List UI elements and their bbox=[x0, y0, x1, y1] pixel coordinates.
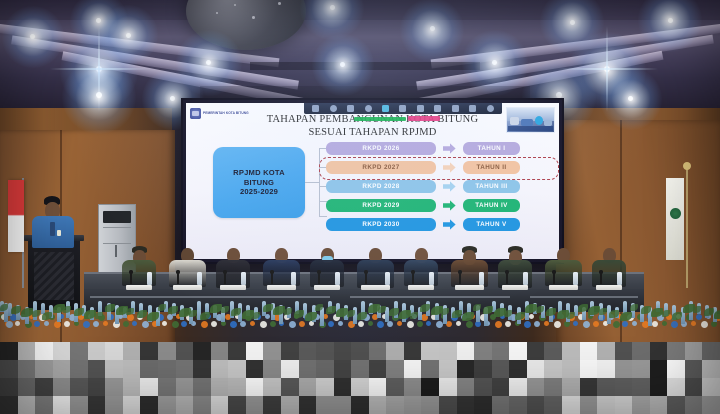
flower-leaf bbox=[441, 308, 449, 315]
mosaic-block bbox=[404, 360, 422, 378]
flower-bloom bbox=[662, 321, 667, 326]
mosaic-block bbox=[334, 342, 352, 360]
mosaic-block bbox=[421, 360, 439, 378]
flower-leaf bbox=[105, 304, 115, 312]
mosaic-block bbox=[439, 396, 457, 414]
mosaic-block bbox=[299, 342, 317, 360]
flower-bloom bbox=[127, 314, 134, 321]
flower-bloom bbox=[456, 321, 461, 326]
flower-bloom bbox=[338, 321, 343, 326]
rpjmd-main-box: RPJMD KOTA BITUNG 2025-2029 bbox=[213, 147, 305, 218]
ceiling-light bbox=[668, 18, 673, 23]
mosaic-block bbox=[615, 378, 633, 396]
flower-bloom bbox=[701, 321, 708, 328]
table-rail bbox=[350, 296, 510, 298]
table-rail bbox=[530, 296, 638, 298]
water-bottle bbox=[523, 272, 528, 285]
tahun-box: TAHUN IV bbox=[463, 199, 520, 212]
tahun-box: TAHUN II bbox=[463, 161, 520, 174]
mosaic-block bbox=[544, 378, 562, 396]
mosaic-block bbox=[562, 342, 580, 360]
flower-bloom bbox=[270, 321, 276, 327]
arrow-right-icon bbox=[442, 200, 457, 211]
mosaic-block bbox=[386, 378, 404, 396]
mosaic-block bbox=[597, 342, 615, 360]
mosaic-block bbox=[263, 396, 281, 414]
tahun-box: TAHUN I bbox=[463, 142, 520, 155]
mosaic-block bbox=[492, 378, 510, 396]
flower-leaf bbox=[347, 310, 355, 317]
highlight-tool-icon[interactable] bbox=[382, 105, 389, 112]
microphone bbox=[177, 272, 179, 284]
mosaic-block bbox=[246, 360, 264, 378]
flower-bloom bbox=[15, 321, 20, 326]
pointer-tool-icon[interactable] bbox=[312, 105, 319, 112]
mosaic-block bbox=[334, 378, 352, 396]
mosaic-block bbox=[70, 378, 88, 396]
mosaic-block bbox=[211, 360, 229, 378]
mosaic-block bbox=[421, 396, 439, 414]
arrow-right-icon bbox=[442, 143, 457, 154]
mosaic-block bbox=[211, 396, 229, 414]
name-plate bbox=[267, 285, 296, 290]
flower-bloom bbox=[44, 321, 49, 326]
mosaic-block bbox=[580, 378, 598, 396]
mosaic-block bbox=[176, 360, 194, 378]
water-bottle bbox=[429, 272, 434, 285]
flower-bloom bbox=[132, 321, 137, 326]
mosaic-block bbox=[0, 396, 18, 414]
connector-spine bbox=[319, 148, 320, 216]
ceiling-light bbox=[96, 18, 101, 23]
flower-leaf bbox=[536, 306, 544, 313]
flower-bloom bbox=[426, 321, 431, 326]
chandelier bbox=[186, 0, 306, 50]
rpjmd-line1: RPJMD KOTA bbox=[233, 168, 285, 178]
mosaic-block bbox=[140, 396, 158, 414]
flower-bloom bbox=[142, 321, 149, 328]
mosaic-block bbox=[685, 396, 703, 414]
flower-bloom bbox=[691, 321, 696, 326]
name-plate bbox=[502, 285, 528, 290]
mosaic-block bbox=[702, 378, 720, 396]
water-bottle bbox=[617, 272, 622, 285]
flagpole-right bbox=[686, 168, 688, 288]
mosaic-block bbox=[123, 378, 141, 396]
mosaic-block bbox=[299, 396, 317, 414]
flower-bloom bbox=[358, 321, 364, 327]
mosaic-block bbox=[35, 378, 53, 396]
mosaic-block bbox=[580, 342, 598, 360]
mosaic-block bbox=[70, 360, 88, 378]
ceremonial-flag bbox=[666, 178, 684, 260]
mosaic-block bbox=[351, 342, 369, 360]
rkpd-box: RKPD 2027 bbox=[326, 161, 436, 174]
ceiling-light bbox=[170, 96, 175, 101]
mosaic-block bbox=[105, 360, 123, 378]
ceiling-light bbox=[430, 26, 435, 31]
mosaic-block bbox=[527, 396, 545, 414]
ceiling bbox=[0, 0, 720, 108]
mosaic-block bbox=[281, 396, 299, 414]
flower-bloom bbox=[622, 321, 628, 327]
draw-tool-icon[interactable] bbox=[365, 105, 372, 112]
mosaic-block bbox=[386, 342, 404, 360]
mosaic-block bbox=[509, 378, 527, 396]
mosaic-block bbox=[527, 342, 545, 360]
flower-leaf bbox=[714, 310, 720, 319]
mosaic-block bbox=[474, 396, 492, 414]
flower-bloom bbox=[201, 321, 208, 328]
flower-bloom bbox=[632, 321, 637, 326]
mosaic-block bbox=[492, 342, 510, 360]
mosaic-block bbox=[70, 396, 88, 414]
mosaic-block bbox=[211, 378, 229, 396]
mosaic-block bbox=[105, 342, 123, 360]
mosaic-block bbox=[369, 396, 387, 414]
flower-bloom bbox=[466, 321, 473, 328]
mosaic-block bbox=[35, 360, 53, 378]
flower-leaf bbox=[63, 306, 71, 313]
mosaic-block bbox=[421, 378, 439, 396]
mosaic-block bbox=[193, 342, 211, 360]
flower-bloom bbox=[671, 321, 678, 328]
mosaic-block bbox=[667, 378, 685, 396]
mosaic-block bbox=[615, 360, 633, 378]
mosaic-block bbox=[158, 342, 176, 360]
microphone bbox=[412, 272, 414, 284]
mosaic-block bbox=[316, 378, 334, 396]
green-highlight-annotation bbox=[354, 117, 406, 121]
mosaic-block bbox=[263, 378, 281, 396]
mosaic-block bbox=[685, 360, 703, 378]
mosaic-block bbox=[105, 378, 123, 396]
mosaic-block bbox=[492, 396, 510, 414]
mosaic-block bbox=[439, 360, 457, 378]
mosaic-block bbox=[53, 378, 71, 396]
mosaic-block bbox=[702, 396, 720, 414]
arrow-right-icon bbox=[442, 219, 457, 230]
connector-stem bbox=[305, 182, 319, 183]
mosaic-block bbox=[0, 342, 18, 360]
projection-screen: PEMERINTAH KOTA BITUNG TAHAPAN PEMBANGUN… bbox=[181, 98, 564, 264]
mosaic-block bbox=[386, 396, 404, 414]
mosaic-block bbox=[140, 342, 158, 360]
flower-bloom bbox=[299, 321, 305, 327]
mosaic-block bbox=[228, 360, 246, 378]
flower-leaf bbox=[483, 306, 493, 314]
cabinet-handle bbox=[115, 245, 117, 257]
mosaic-block bbox=[299, 378, 317, 396]
privacy-mosaic bbox=[0, 342, 720, 414]
flower-leaf bbox=[462, 312, 474, 321]
rkpd-box: RKPD 2029 bbox=[326, 199, 436, 212]
flower-leaf bbox=[599, 308, 607, 315]
clear-tool-icon[interactable] bbox=[469, 105, 476, 112]
mosaic-block bbox=[158, 396, 176, 414]
flower-leaf bbox=[704, 308, 714, 316]
mosaic-block bbox=[18, 378, 36, 396]
roadmap-row: RKPD 2028TAHUN III bbox=[326, 179, 554, 194]
ceiling-light bbox=[206, 60, 211, 65]
mosaic-block bbox=[316, 342, 334, 360]
mosaic-block bbox=[35, 396, 53, 414]
mosaic-block bbox=[53, 360, 71, 378]
text-tool-icon[interactable] bbox=[347, 105, 354, 112]
mosaic-block bbox=[474, 378, 492, 396]
mosaic-block bbox=[527, 378, 545, 396]
roadmap-rows: RKPD 2026TAHUN IRKPD 2027TAHUN IIRKPD 20… bbox=[326, 141, 554, 236]
mosaic-block bbox=[299, 360, 317, 378]
mosaic-block bbox=[527, 360, 545, 378]
mosaic-block bbox=[228, 342, 246, 360]
mosaic-block bbox=[18, 342, 36, 360]
mosaic-block bbox=[632, 396, 650, 414]
screenshot-root: PEMERINTAH KOTA BITUNG TAHAPAN PEMBANGUN… bbox=[0, 0, 720, 414]
mosaic-block bbox=[562, 396, 580, 414]
eraser-tool-icon[interactable] bbox=[399, 105, 406, 112]
flower-bloom bbox=[544, 321, 549, 326]
flower-bloom bbox=[230, 321, 237, 328]
mosaic-block bbox=[263, 342, 281, 360]
water-bottle bbox=[385, 272, 390, 285]
flower-leaf bbox=[95, 312, 103, 319]
flower-bloom bbox=[573, 321, 578, 326]
mosaic-block bbox=[246, 378, 264, 396]
mosaic-block bbox=[140, 360, 158, 378]
flower-bloom bbox=[64, 321, 70, 327]
mosaic-block bbox=[53, 342, 71, 360]
flower-bloom bbox=[162, 321, 167, 326]
mosaic-block bbox=[281, 360, 299, 378]
mosaic-block bbox=[544, 396, 562, 414]
flower-leaf bbox=[410, 312, 418, 319]
tahun-box: TAHUN III bbox=[463, 180, 520, 193]
mosaic-block bbox=[509, 396, 527, 414]
mosaic-block bbox=[562, 378, 580, 396]
name-plate bbox=[361, 285, 390, 290]
podium-front-panel bbox=[34, 252, 74, 300]
water-bottle bbox=[479, 272, 484, 285]
mosaic-block bbox=[316, 396, 334, 414]
mosaic-block bbox=[228, 396, 246, 414]
arrow-right-icon bbox=[442, 162, 457, 173]
water-bottle bbox=[197, 272, 202, 285]
mosaic-block bbox=[88, 396, 106, 414]
mosaic-block bbox=[580, 396, 598, 414]
flower-bloom bbox=[368, 321, 373, 326]
water-bottle bbox=[241, 272, 246, 285]
mosaic-block bbox=[439, 378, 457, 396]
mosaic-block bbox=[334, 360, 352, 378]
ceiling-light bbox=[340, 62, 345, 67]
microphone bbox=[600, 272, 602, 284]
flower-bloom bbox=[123, 321, 129, 327]
mosaic-block bbox=[685, 342, 703, 360]
water-bottle bbox=[291, 272, 296, 285]
mosaic-block bbox=[615, 396, 633, 414]
roadmap-row: RKPD 2030TAHUN V bbox=[326, 217, 554, 232]
mosaic-block bbox=[404, 342, 422, 360]
microphone bbox=[271, 272, 273, 284]
mosaic-block bbox=[667, 360, 685, 378]
mosaic-block bbox=[246, 342, 264, 360]
mosaic-block bbox=[457, 342, 475, 360]
flower-leaf bbox=[32, 310, 40, 317]
flower-bloom bbox=[211, 321, 217, 327]
name-plate bbox=[549, 285, 578, 290]
mosaic-block bbox=[632, 342, 650, 360]
mosaic-block bbox=[492, 360, 510, 378]
flower-bloom bbox=[6, 321, 13, 328]
flower-leaf bbox=[630, 304, 638, 311]
mosaic-block bbox=[158, 378, 176, 396]
flower-leaf bbox=[137, 310, 147, 318]
pink-highlight-annotation bbox=[408, 116, 440, 121]
flower-bloom bbox=[652, 321, 658, 327]
flower-leaf bbox=[158, 304, 166, 311]
microphone bbox=[130, 272, 132, 284]
mosaic-block bbox=[650, 396, 668, 414]
flower-bloom bbox=[534, 321, 540, 327]
more-tool-icon[interactable] bbox=[487, 105, 494, 112]
mosaic-block bbox=[228, 378, 246, 396]
mosaic-block bbox=[281, 342, 299, 360]
mosaic-block bbox=[0, 360, 18, 378]
mosaic-block bbox=[53, 396, 71, 414]
flower-leaf bbox=[221, 306, 229, 313]
mosaic-block bbox=[457, 378, 475, 396]
microphone bbox=[459, 272, 461, 284]
flower-bloom bbox=[554, 321, 561, 328]
mosaic-block bbox=[439, 342, 457, 360]
presentation-slide: PEMERINTAH KOTA BITUNG TAHAPAN PEMBANGUN… bbox=[186, 103, 559, 259]
name-plate bbox=[455, 285, 484, 290]
mosaic-block bbox=[632, 360, 650, 378]
mosaic-block bbox=[334, 396, 352, 414]
shape-tool-icon[interactable] bbox=[417, 105, 424, 112]
flower-bloom bbox=[377, 321, 384, 328]
flower-bloom bbox=[583, 321, 590, 328]
ceiling-light bbox=[492, 60, 497, 65]
water-bottle bbox=[147, 272, 152, 285]
mosaic-block bbox=[369, 378, 387, 396]
pen-tool-icon[interactable] bbox=[434, 105, 441, 112]
flower-bloom bbox=[613, 321, 620, 328]
microphone bbox=[365, 272, 367, 284]
mosaic-block bbox=[667, 396, 685, 414]
mosaic-block bbox=[193, 396, 211, 414]
rpjmd-line2: BITUNG bbox=[233, 178, 285, 188]
rpjmd-line3: 2025-2029 bbox=[233, 187, 285, 197]
mosaic-block bbox=[650, 360, 668, 378]
flower-bloom bbox=[83, 321, 90, 328]
microphone bbox=[318, 272, 320, 284]
microphone bbox=[553, 272, 555, 284]
mosaic-block bbox=[140, 378, 158, 396]
flower-bloom bbox=[524, 321, 531, 328]
mosaic-block bbox=[457, 360, 475, 378]
ceiling-light bbox=[96, 66, 102, 72]
mosaic-block bbox=[70, 342, 88, 360]
mosaic-block bbox=[650, 342, 668, 360]
mosaic-block bbox=[404, 396, 422, 414]
flower-leaf bbox=[284, 308, 292, 315]
water-bottle bbox=[573, 272, 578, 285]
ceiling-light bbox=[604, 66, 610, 72]
mosaic-block bbox=[702, 342, 720, 360]
mosaic-block bbox=[351, 378, 369, 396]
mosaic-block bbox=[544, 342, 562, 360]
flower-arrangements bbox=[0, 300, 720, 348]
mosaic-block bbox=[580, 360, 598, 378]
rkpd-box: RKPD 2028 bbox=[326, 180, 436, 193]
mosaic-block bbox=[211, 342, 229, 360]
speaker-collar bbox=[50, 222, 55, 236]
mosaic-block bbox=[18, 396, 36, 414]
name-plate bbox=[220, 285, 246, 290]
select-tool-icon[interactable] bbox=[330, 105, 337, 112]
mosaic-block bbox=[421, 342, 439, 360]
flower-bloom bbox=[93, 321, 99, 327]
flower-bloom bbox=[505, 321, 511, 327]
mosaic-block bbox=[193, 360, 211, 378]
mosaic-block bbox=[88, 378, 106, 396]
mosaic-block bbox=[0, 378, 18, 396]
mosaic-block bbox=[176, 378, 194, 396]
mosaic-block bbox=[176, 342, 194, 360]
roadmap-row: RKPD 2029TAHUN IV bbox=[326, 198, 554, 213]
mosaic-block bbox=[667, 342, 685, 360]
cabinet-slot bbox=[103, 211, 131, 223]
ceiling-light bbox=[330, 5, 335, 10]
microphone bbox=[224, 272, 226, 284]
mosaic-block bbox=[597, 396, 615, 414]
annotation-toolbar[interactable] bbox=[304, 103, 502, 114]
flower-leaf bbox=[168, 306, 178, 314]
undo-tool-icon[interactable] bbox=[452, 105, 459, 112]
flower-bloom bbox=[417, 321, 423, 327]
flower-bloom bbox=[260, 321, 267, 328]
mosaic-block bbox=[544, 360, 562, 378]
mosaic-block bbox=[263, 360, 281, 378]
mosaic-block bbox=[351, 396, 369, 414]
table-rail bbox=[90, 296, 330, 298]
mosaic-block bbox=[35, 342, 53, 360]
mosaic-block bbox=[404, 378, 422, 396]
mosaic-block bbox=[474, 342, 492, 360]
mosaic-block bbox=[193, 378, 211, 396]
microphone bbox=[506, 272, 508, 284]
mosaic-block bbox=[702, 360, 720, 378]
ceiling-light bbox=[126, 33, 131, 38]
mosaic-block bbox=[474, 360, 492, 378]
roadmap-row: RKPD 2026TAHUN I bbox=[326, 141, 554, 156]
rkpd-box: RKPD 2026 bbox=[326, 142, 436, 155]
roadmap-row: RKPD 2027TAHUN II bbox=[326, 160, 554, 175]
mosaic-block bbox=[509, 360, 527, 378]
flower-bloom bbox=[181, 321, 187, 327]
flower-bloom bbox=[328, 321, 334, 327]
name-plate bbox=[126, 285, 152, 290]
mosaic-block bbox=[88, 342, 106, 360]
flower-bloom bbox=[696, 314, 702, 320]
flower-leaf bbox=[473, 304, 481, 311]
mosaic-block bbox=[632, 378, 650, 396]
flower-bloom bbox=[593, 321, 599, 327]
mosaic-block bbox=[246, 396, 264, 414]
flower-bloom bbox=[407, 321, 414, 328]
